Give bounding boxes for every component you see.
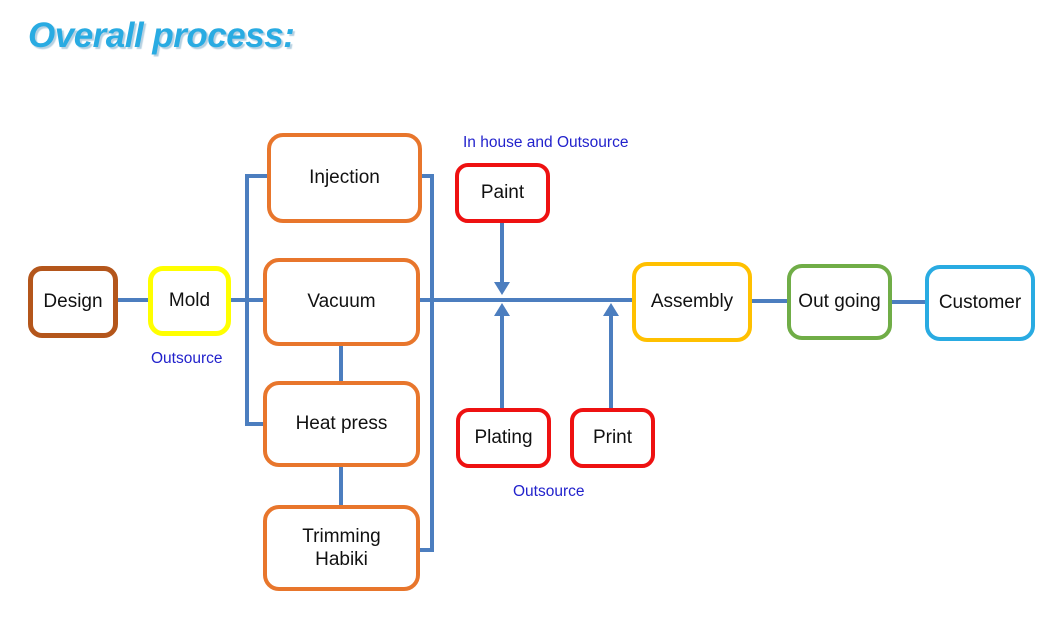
node-design[interactable]: Design: [28, 266, 118, 338]
node-label: Customer: [939, 291, 1021, 314]
node-out-going[interactable]: Out going: [787, 264, 892, 340]
node-label: Mold: [169, 289, 210, 312]
node-label: Plating: [474, 426, 532, 449]
connector-vacuum-to-heatpress: [339, 344, 343, 383]
connector-assembly-to-outgoing: [750, 299, 789, 303]
connector-print-to-main-line: [609, 316, 613, 409]
connector-left-bus-vertical: [245, 174, 249, 426]
arrow-plating-up-icon: [494, 303, 510, 316]
node-label: Out going: [798, 290, 880, 313]
connector-outgoing-to-customer: [890, 300, 927, 304]
node-label: Design: [43, 290, 102, 313]
connector-main-line-to-assembly: [416, 298, 634, 302]
node-print[interactable]: Print: [570, 408, 655, 468]
arrow-print-up-icon: [603, 303, 619, 316]
connector-heatpress-to-trimming: [339, 466, 343, 507]
connector-plating-to-main-line: [500, 316, 504, 409]
page-title: Overall process:: [28, 16, 294, 56]
node-label: Vacuum: [307, 290, 375, 313]
node-plating[interactable]: Plating: [456, 408, 551, 468]
slide-canvas: Overall process: Design Mold Injection V…: [0, 0, 1051, 641]
node-label: Assembly: [651, 290, 733, 313]
arrow-paint-down-icon: [494, 282, 510, 295]
connector-design-to-mold: [116, 298, 150, 302]
caption-plating-print-outsource: Outsource: [513, 483, 585, 501]
node-trimming-habiki[interactable]: Trimming Habiki: [263, 505, 420, 591]
caption-paint-in-house-and-outsource: In house and Outsource: [463, 134, 628, 152]
node-label: Heat press: [296, 412, 388, 435]
node-assembly[interactable]: Assembly: [632, 262, 752, 342]
node-mold[interactable]: Mold: [148, 266, 231, 336]
caption-mold-outsource: Outsource: [151, 350, 223, 368]
connector-right-bus-vertical: [430, 174, 434, 550]
node-vacuum[interactable]: Vacuum: [263, 258, 420, 346]
node-label: Injection: [309, 166, 380, 189]
connector-paint-to-main-line: [500, 222, 504, 284]
node-label: Paint: [481, 181, 524, 204]
node-label: Print: [593, 426, 632, 449]
node-heat-press[interactable]: Heat press: [263, 381, 420, 467]
node-customer[interactable]: Customer: [925, 265, 1035, 341]
node-injection[interactable]: Injection: [267, 133, 422, 223]
node-paint[interactable]: Paint: [455, 163, 550, 223]
node-label: Trimming Habiki: [302, 525, 380, 571]
